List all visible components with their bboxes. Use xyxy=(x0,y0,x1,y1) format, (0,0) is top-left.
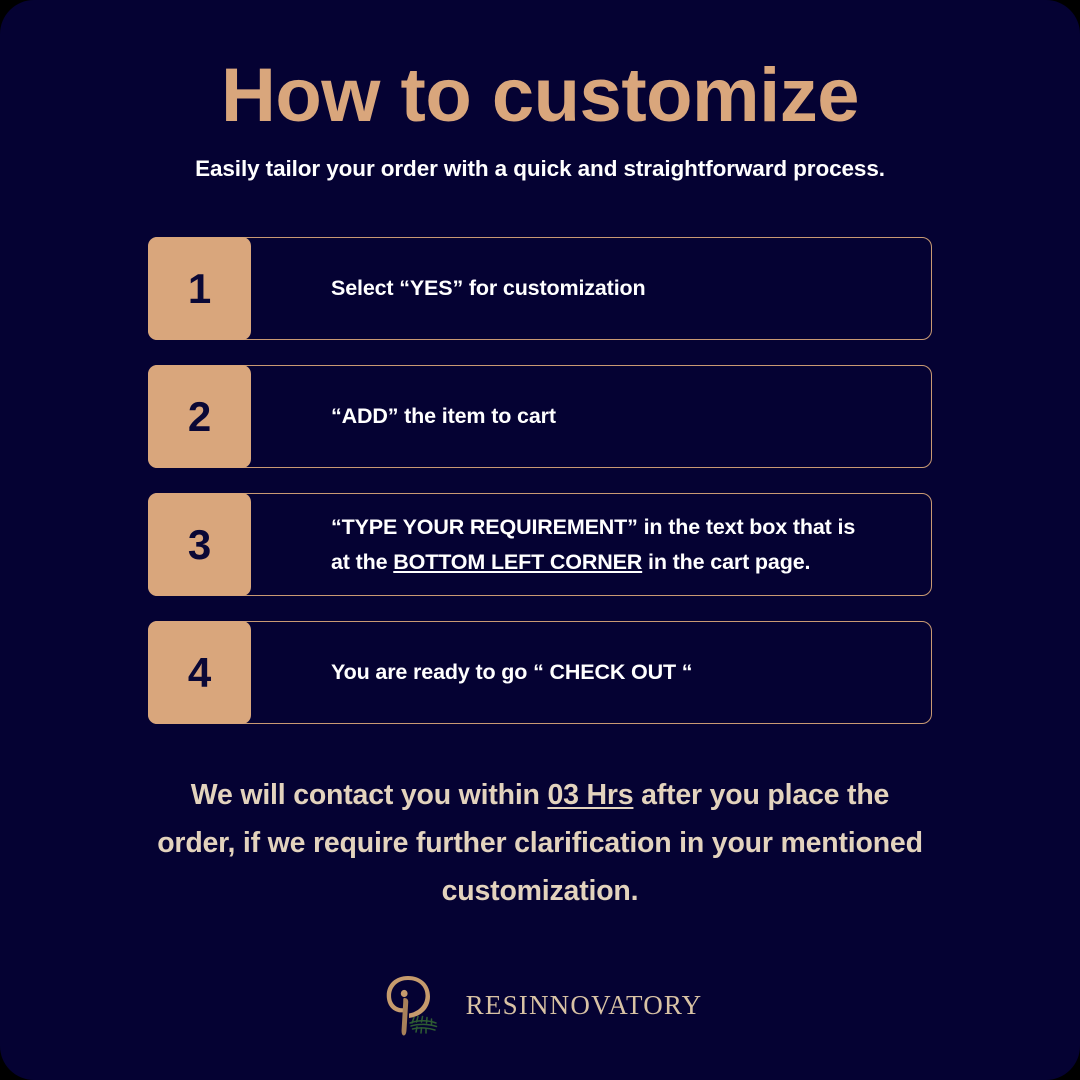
step-text-line: at the BOTTOM LEFT CORNER in the cart pa… xyxy=(331,545,911,580)
page-title: How to customize xyxy=(0,58,1080,134)
step-text-line: Select “YES” for customization xyxy=(331,271,911,306)
step-row: 4You are ready to go “ CHECK OUT “ xyxy=(148,621,932,724)
steps-list: 1Select “YES” for customization2“ADD” th… xyxy=(148,237,932,724)
step-text: You are ready to go “ CHECK OUT “ xyxy=(331,621,911,724)
note-highlight: 03 Hrs xyxy=(547,779,633,811)
resinnovatory-monogram-icon xyxy=(378,968,450,1042)
step-number-badge: 4 xyxy=(148,621,251,724)
step-text-line: You are ready to go “ CHECK OUT “ xyxy=(331,655,911,690)
step-number: 1 xyxy=(188,268,211,310)
step-row: 3“TYPE YOUR REQUIREMENT” in the text box… xyxy=(148,493,932,596)
step-text: Select “YES” for customization xyxy=(331,237,911,340)
step-number-badge: 2 xyxy=(148,365,251,468)
step-row: 2“ADD” the item to cart xyxy=(148,365,932,468)
step-text-segment: Select “YES” for customization xyxy=(331,276,645,300)
step-text: “TYPE YOUR REQUIREMENT” in the text box … xyxy=(331,493,911,596)
brand-logo: Resinnovatory xyxy=(0,968,1080,1042)
step-text-line: “ADD” the item to cart xyxy=(331,399,911,434)
step-row: 1Select “YES” for customization xyxy=(148,237,932,340)
step-text-segment: in the cart page. xyxy=(642,550,810,574)
header: How to customize Easily tailor your orde… xyxy=(0,58,1080,182)
step-text-emphasis: BOTTOM LEFT CORNER xyxy=(393,550,642,574)
contact-note: We will contact you within 03 Hrs after … xyxy=(150,772,930,916)
brand-wordmark: Resinnovatory xyxy=(466,990,703,1021)
step-text-line: “TYPE YOUR REQUIREMENT” in the text box … xyxy=(331,510,911,545)
note-part-1: We will contact you within xyxy=(191,779,548,811)
step-text-segment: “TYPE YOUR REQUIREMENT” in the text box … xyxy=(331,515,855,539)
step-number: 2 xyxy=(188,396,211,438)
page-subtitle: Easily tailor your order with a quick an… xyxy=(0,156,1080,182)
step-text-segment: at the xyxy=(331,550,393,574)
step-text-segment: “ADD” the item to cart xyxy=(331,404,556,428)
step-number: 4 xyxy=(188,652,211,694)
step-number-badge: 1 xyxy=(148,237,251,340)
step-number-badge: 3 xyxy=(148,493,251,596)
poster-canvas: How to customize Easily tailor your orde… xyxy=(0,0,1080,1080)
step-text-segment: You are ready to go “ CHECK OUT “ xyxy=(331,660,692,684)
step-text: “ADD” the item to cart xyxy=(331,365,911,468)
step-number: 3 xyxy=(188,524,211,566)
